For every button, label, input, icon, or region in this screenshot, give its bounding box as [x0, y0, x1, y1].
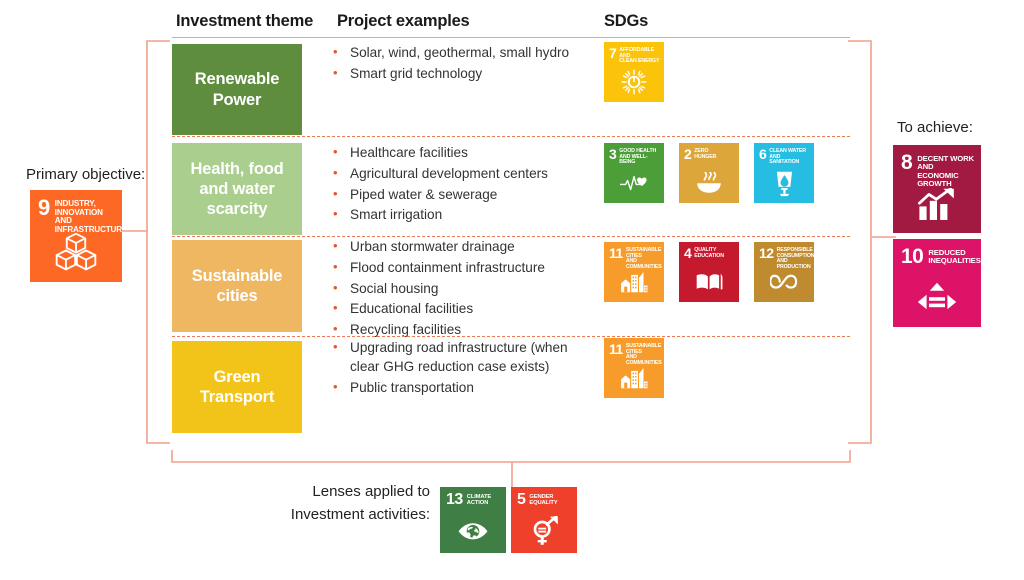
list-item: • Upgrading road infrastructure (when cl…: [333, 338, 583, 377]
city-icon: [604, 362, 664, 394]
list-item: • Educational facilities: [333, 299, 583, 318]
sdg-title: ZEROHUNGER: [694, 148, 716, 160]
bullet-dot-icon: •: [333, 164, 350, 182]
header-investment-theme: Investment theme: [176, 12, 313, 31]
sdg-head: 7 AFFORDABLE ANDCLEAN ENERGY: [604, 42, 664, 65]
header-project-examples: Project examples: [337, 12, 470, 31]
sdg-icon-9: 9 INDUSTRY, INNOVATIONAND INFRASTRUCTURE: [30, 190, 122, 282]
theme-box[interactable]: Health, foodand waterscarcity: [172, 143, 302, 235]
sdg-head: 2 ZEROHUNGER: [679, 143, 739, 161]
project-examples-list: • Upgrading road infrastructure (when cl…: [333, 338, 583, 399]
sdg-title: REDUCEDINEQUALITIES: [928, 247, 980, 266]
bullet-dot-icon: •: [333, 299, 350, 317]
left-bracket: [147, 41, 170, 443]
list-item-text: Social housing: [350, 279, 583, 298]
sdg-icon-4: 4 QUALITYEDUCATION: [679, 242, 739, 302]
list-item-text: Healthcare facilities: [350, 143, 583, 162]
bullet-dot-icon: •: [333, 279, 350, 297]
sdg-icon-6: 6 CLEAN WATERAND SANITATION: [754, 143, 814, 203]
sdg-head: 5 GENDEREQUALITY: [511, 487, 577, 508]
bowl-icon: [679, 167, 739, 199]
sun-power-icon: [604, 66, 664, 98]
bullet-dot-icon: •: [333, 205, 350, 223]
sdg-icon-12: 12 RESPONSIBLECONSUMPTIONAND PRODUCTION: [754, 242, 814, 302]
sdg-head: 6 CLEAN WATERAND SANITATION: [754, 143, 814, 166]
sdg-title: AFFORDABLE ANDCLEAN ENERGY: [619, 47, 660, 65]
eye-earth-icon: [440, 513, 506, 549]
sdg-number: 4: [684, 247, 691, 260]
sdg-head: 3 GOOD HEALTHAND WELL-BEING: [604, 143, 664, 166]
sdg-number: 12: [759, 247, 774, 260]
list-item: • Healthcare facilities: [333, 143, 583, 162]
to-achieve-label: To achieve:: [897, 119, 973, 136]
infinity-icon: [754, 266, 814, 298]
list-item: • Solar, wind, geothermal, small hydro: [333, 43, 583, 62]
row-separator: [172, 136, 850, 137]
list-item-text: Flood containment infrastructure: [350, 258, 583, 277]
list-item: • Flood containment infrastructure: [333, 258, 583, 277]
list-item-text: Agricultural development centers: [350, 164, 583, 183]
cubes-icon: [30, 227, 122, 276]
sdg-icon-11: 11 SUSTAINABLE CITIESAND COMMUNITIES: [604, 242, 664, 302]
bullet-dot-icon: •: [333, 258, 350, 276]
list-item: • Smart grid technology: [333, 64, 583, 83]
project-examples-list: • Healthcare facilities • Agricultural d…: [333, 143, 583, 226]
list-item: • Agricultural development centers: [333, 164, 583, 183]
sdg-number: 7: [609, 47, 616, 60]
sdg-number: 10: [901, 247, 923, 266]
sdg-head: 13 CLIMATEACTION: [440, 487, 506, 508]
lenses-icons-slot: 13 CLIMATEACTION 5 GENDEREQUALITY: [440, 487, 590, 553]
theme-box[interactable]: GreenTransport: [172, 341, 302, 433]
sdg-number: 5: [517, 493, 525, 508]
header-divider: [172, 37, 850, 38]
growth-chart-icon: [893, 180, 981, 228]
sdg-title: GOOD HEALTHAND WELL-BEING: [619, 148, 660, 166]
sdg-icon-8: 8 DECENT WORK ANDECONOMIC GROWTH: [893, 145, 981, 233]
sdg-number: 11: [609, 247, 623, 260]
list-item-text: Upgrading road infrastructure (when clea…: [350, 338, 583, 377]
list-item-text: Educational facilities: [350, 299, 583, 318]
sdg-icon-7: 7 AFFORDABLE ANDCLEAN ENERGY: [604, 42, 664, 102]
book-pencil-icon: [679, 266, 739, 298]
bullet-dot-icon: •: [333, 338, 350, 356]
theme-box-label: Sustainablecities: [192, 266, 282, 306]
theme-box-label: RenewablePower: [195, 69, 279, 109]
sdg-head: 10 REDUCEDINEQUALITIES: [893, 239, 981, 266]
sdg-number: 3: [609, 148, 616, 161]
bottom-bracket: [172, 450, 850, 462]
sdg-icon-11: 11 SUSTAINABLE CITIESAND COMMUNITIES: [604, 338, 664, 398]
list-item-text: Urban stormwater drainage: [350, 237, 583, 256]
bullet-dot-icon: •: [333, 43, 350, 61]
list-item-text: Smart grid technology: [350, 64, 583, 83]
equal-arrows-icon: [893, 274, 981, 322]
list-item: • Urban stormwater drainage: [333, 237, 583, 256]
sdg-title: CLIMATEACTION: [467, 493, 491, 506]
list-item-text: Public transportation: [350, 378, 583, 397]
lenses-label: Lenses applied to Investment activities:: [240, 481, 430, 526]
bullet-dot-icon: •: [333, 237, 350, 255]
infographic-canvas: Investment theme Project examples SDGs R…: [0, 0, 1024, 580]
list-item-text: Piped water & sewerage: [350, 185, 583, 204]
water-drop-icon: [754, 167, 814, 199]
bullet-dot-icon: •: [333, 378, 350, 396]
sdg-icon-13: 13 CLIMATEACTION: [440, 487, 506, 553]
sdg-icon-3: 3 GOOD HEALTHAND WELL-BEING: [604, 143, 664, 203]
list-item: • Smart irrigation: [333, 205, 583, 224]
row-separator: [172, 336, 850, 337]
list-item-text: Smart irrigation: [350, 205, 583, 224]
sdg-number: 13: [446, 493, 463, 508]
theme-box[interactable]: RenewablePower: [172, 44, 302, 135]
sdg-icon-2: 2 ZEROHUNGER: [679, 143, 739, 203]
lenses-label-line2: Investment activities:: [240, 504, 430, 527]
lenses-label-line1: Lenses applied to: [240, 481, 430, 504]
theme-box[interactable]: Sustainablecities: [172, 240, 302, 332]
gender-equality-icon: [511, 513, 577, 549]
project-examples-list: • Urban stormwater drainage • Flood cont…: [333, 237, 583, 341]
sdg-title: GENDEREQUALITY: [529, 493, 557, 506]
sdg-title: CLEAN WATERAND SANITATION: [769, 148, 810, 166]
primary-objective-icon-slot: 9 INDUSTRY, INNOVATIONAND INFRASTRUCTURE: [30, 190, 122, 282]
list-item: • Piped water & sewerage: [333, 185, 583, 204]
bullet-dot-icon: •: [333, 64, 350, 82]
theme-box-label: GreenTransport: [200, 367, 274, 407]
bullet-dot-icon: •: [333, 143, 350, 161]
project-examples-list: • Solar, wind, geothermal, small hydro •…: [333, 43, 583, 85]
list-item-text: Solar, wind, geothermal, small hydro: [350, 43, 583, 62]
sdg-number: 8: [901, 153, 912, 172]
sdg-number: 9: [38, 198, 50, 218]
primary-objective-label: Primary objective:: [26, 166, 145, 183]
sdg-number: 2: [684, 148, 691, 161]
bullet-dot-icon: •: [333, 185, 350, 203]
right-bracket: [848, 41, 871, 443]
theme-box-label: Health, foodand waterscarcity: [191, 159, 284, 219]
sdg-title: QUALITYEDUCATION: [694, 247, 724, 259]
sdg-number: 6: [759, 148, 766, 161]
sdg-icon-10: 10 REDUCEDINEQUALITIES: [893, 239, 981, 327]
heartbeat-icon: [604, 167, 664, 199]
sdg-icon-5: 5 GENDEREQUALITY: [511, 487, 577, 553]
sdg-head: 4 QUALITYEDUCATION: [679, 242, 739, 260]
list-item: • Social housing: [333, 279, 583, 298]
to-achieve-icons-slot: 8 DECENT WORK ANDECONOMIC GROWTH 10 REDU…: [893, 145, 993, 325]
city-icon: [604, 266, 664, 298]
header-sdgs: SDGs: [604, 12, 648, 31]
sdg-number: 11: [609, 343, 623, 356]
list-item: • Public transportation: [333, 378, 583, 397]
